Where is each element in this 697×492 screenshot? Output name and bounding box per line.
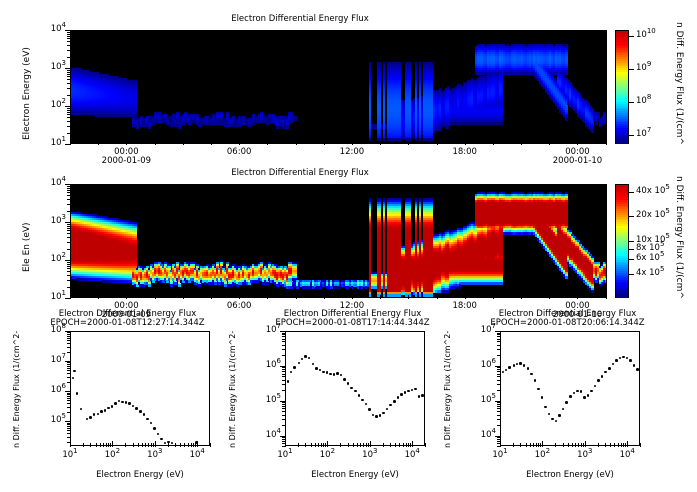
- data-point: [397, 396, 400, 399]
- data-point: [111, 405, 114, 408]
- spectrogram2-colorbar-label: n Diff. Energy Flux (1/(cm^: [674, 176, 684, 299]
- data-point: [375, 415, 378, 418]
- data-point: [128, 402, 131, 405]
- data-point: [121, 401, 124, 404]
- data-point: [576, 390, 579, 393]
- data-point: [93, 413, 96, 416]
- data-point: [569, 395, 572, 398]
- data-point: [160, 438, 163, 441]
- data-point: [298, 362, 301, 365]
- data-point: [104, 409, 107, 412]
- data-point: [537, 388, 540, 391]
- data-point: [534, 379, 537, 382]
- data-point: [326, 371, 329, 374]
- data-point: [368, 408, 371, 411]
- data-point: [319, 369, 322, 372]
- data-point: [139, 410, 142, 413]
- data-point: [72, 377, 75, 380]
- data-point: [544, 406, 547, 409]
- data-point: [347, 382, 350, 385]
- line1-ylabel: n Diff. Energy Flux (1/(cm^2-: [12, 331, 21, 448]
- data-point: [322, 371, 325, 374]
- data-point: [530, 373, 533, 376]
- data-point: [107, 407, 110, 410]
- data-point: [404, 391, 407, 394]
- data-point: [382, 412, 385, 415]
- data-point: [622, 356, 625, 359]
- data-point: [287, 380, 290, 383]
- data-point: [86, 418, 89, 421]
- data-point: [118, 400, 121, 403]
- data-point: [97, 413, 100, 416]
- data-point: [379, 414, 382, 417]
- spectrogram1-title: Electron Differential Energy Flux: [0, 14, 600, 24]
- data-point: [580, 390, 583, 393]
- data-point: [350, 387, 353, 390]
- data-point: [365, 403, 368, 406]
- data-point: [594, 385, 597, 388]
- data-point: [304, 355, 307, 358]
- data-point: [590, 390, 593, 393]
- data-point: [343, 378, 346, 381]
- data-point: [340, 374, 343, 377]
- line2-plot[interactable]: [285, 331, 425, 446]
- data-point: [400, 393, 403, 396]
- data-point: [135, 407, 138, 410]
- data-point: [629, 359, 632, 362]
- data-point: [361, 399, 364, 402]
- data-point: [604, 371, 607, 374]
- data-point: [626, 357, 629, 360]
- data-point: [508, 366, 511, 369]
- data-point: [146, 418, 149, 421]
- data-point: [393, 400, 396, 403]
- data-point: [583, 396, 586, 399]
- data-point: [333, 373, 336, 376]
- data-point: [125, 401, 128, 404]
- spectrogram2-colorbar[interactable]: [615, 184, 629, 298]
- data-point: [389, 404, 392, 407]
- spectrogram1-colorbar[interactable]: [615, 30, 629, 144]
- data-point: [587, 394, 590, 397]
- data-point: [527, 367, 530, 370]
- line3-plot[interactable]: [500, 331, 640, 446]
- data-point: [143, 413, 146, 416]
- data-point: [619, 357, 622, 360]
- data-point: [411, 389, 414, 392]
- line1-plot[interactable]: [70, 331, 210, 446]
- data-point: [290, 371, 293, 374]
- data-point: [150, 422, 153, 425]
- data-point: [171, 442, 174, 445]
- data-point: [89, 416, 92, 419]
- data-point: [372, 414, 375, 417]
- data-point: [601, 375, 604, 378]
- data-point: [73, 370, 76, 373]
- data-point: [516, 363, 519, 366]
- data-point: [114, 402, 117, 405]
- data-point: [558, 414, 561, 417]
- data-point: [308, 357, 311, 360]
- data-point: [502, 371, 505, 374]
- data-point: [293, 366, 296, 369]
- line3-ylabel: n Diff. Energy Flux (1/(cm^2-: [443, 331, 452, 448]
- line1-xlabel: Electron Energy (eV): [70, 470, 210, 480]
- data-point: [354, 390, 357, 393]
- data-point: [358, 394, 361, 397]
- data-point: [132, 405, 135, 408]
- data-point: [421, 394, 424, 397]
- line3-xlabel: Electron Energy (eV): [500, 470, 640, 480]
- data-point: [153, 427, 156, 430]
- spectrogram1-plot[interactable]: [70, 30, 607, 144]
- data-point: [505, 369, 508, 372]
- data-point: [548, 413, 551, 416]
- data-point: [315, 367, 318, 370]
- spectrogram2-ylabel: Ele En (eV): [22, 222, 32, 272]
- spectrogram2-plot[interactable]: [70, 184, 607, 298]
- data-point: [80, 408, 83, 411]
- data-point: [615, 359, 618, 362]
- line2-ylabel: n Diff. Energy Flux (1/(cm^2-: [228, 331, 237, 448]
- data-point: [597, 379, 600, 382]
- data-point: [100, 410, 103, 413]
- data-point: [312, 363, 315, 366]
- spectrogram1-colorbar-label: n Diff. Energy Flux (1/(cm^: [674, 22, 684, 145]
- data-point: [301, 358, 304, 361]
- data-point: [541, 396, 544, 399]
- data-point: [513, 364, 516, 367]
- data-point: [612, 363, 615, 366]
- data-point: [76, 392, 79, 395]
- data-point: [164, 442, 167, 445]
- data-point: [407, 390, 410, 393]
- spectrogram2-colorbar-label-wrap: n Diff. Energy Flux (1/(cm^: [684, 176, 697, 186]
- data-point: [329, 373, 332, 376]
- data-point: [418, 395, 421, 398]
- data-point: [519, 362, 522, 365]
- data-point: [336, 372, 339, 375]
- data-point: [157, 433, 160, 436]
- data-point: [565, 401, 568, 404]
- data-point: [633, 364, 636, 367]
- data-point: [573, 392, 576, 395]
- line2-xlabel: Electron Energy (eV): [285, 470, 425, 480]
- data-point: [551, 418, 554, 421]
- data-point: [386, 408, 389, 411]
- spectrogram2-title: Electron Differential Energy Flux: [0, 168, 600, 178]
- spectrogram2-ylabel-wrap: Ele En (eV): [22, 272, 72, 282]
- data-point: [523, 364, 526, 367]
- data-point: [608, 367, 611, 370]
- spectrogram1-colorbar-label-wrap: n Diff. Energy Flux (1/(cm^: [684, 22, 697, 32]
- data-point: [562, 408, 565, 411]
- data-point: [555, 420, 558, 423]
- data-point: [636, 368, 639, 371]
- data-point: [414, 388, 417, 391]
- spectrogram1-ylabel: Electron Energy (eV): [22, 47, 32, 140]
